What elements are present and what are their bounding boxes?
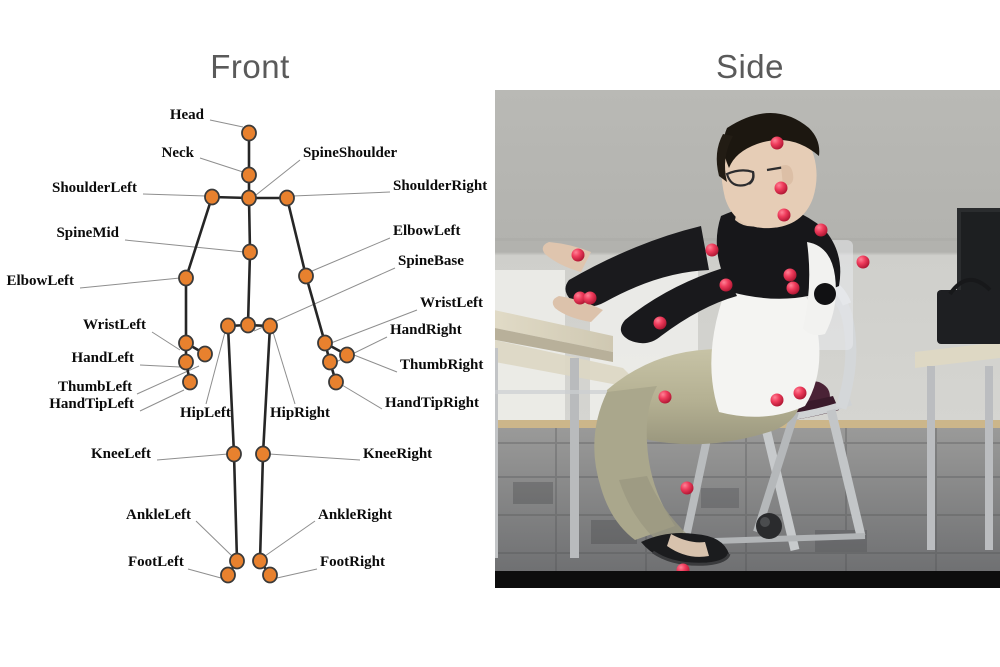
joint-ankleleft[interactable] xyxy=(230,554,244,569)
desk-bag xyxy=(937,290,1000,344)
front-skeleton-diagram: HeadNeckSpineShoulderShoulderLeftShoulde… xyxy=(0,90,495,600)
photo-marker-hand-tip-2[interactable] xyxy=(654,317,667,330)
joint-label-thumbright-13: ThumbRight xyxy=(400,358,483,373)
joint-label-spinemid-5: SpineMid xyxy=(48,226,119,241)
joint-handleft[interactable] xyxy=(179,355,193,370)
leader-line-ankleleft-21 xyxy=(196,521,232,556)
joint-label-elbowleft-7: ElbowLeft xyxy=(5,274,74,289)
joint-label-handright-11: HandRight xyxy=(390,323,462,338)
joint-label-handtipright-18: HandTipRight xyxy=(385,396,479,411)
photo-bottom-band xyxy=(495,571,1000,588)
skeleton-svg xyxy=(0,90,495,600)
joint-label-wristleft-10: WristLeft xyxy=(78,318,146,333)
joint-spinemid[interactable] xyxy=(243,245,257,260)
leader-line-neck-1 xyxy=(200,158,243,172)
joint-label-footright-24: FootRight xyxy=(320,555,385,570)
joint-label-elbowleft-6: ElbowLeft xyxy=(393,224,461,239)
leader-line-hipright-17 xyxy=(273,332,295,404)
leader-line-footright-24 xyxy=(277,569,317,578)
leader-line-ankleright-22 xyxy=(265,521,315,556)
joint-label-hipleft-16: HipLeft xyxy=(180,406,231,421)
joint-neck[interactable] xyxy=(242,168,256,183)
joint-handtipleft[interactable] xyxy=(183,375,197,390)
joint-label-kneeleft-19: KneeLeft xyxy=(83,447,151,462)
leader-line-elbowleft-7 xyxy=(80,278,180,288)
joint-label-handtipleft-15: HandTipLeft xyxy=(41,397,134,412)
joint-head[interactable] xyxy=(242,126,256,141)
joint-spinebase[interactable] xyxy=(241,318,255,333)
joint-label-spineshoulder-2: SpineShoulder xyxy=(303,146,397,161)
photo-marker-knee[interactable] xyxy=(681,482,694,495)
joint-elbowright[interactable] xyxy=(299,269,313,284)
leader-line-hipleft-16 xyxy=(206,332,225,404)
joint-shoulderright[interactable] xyxy=(280,191,294,206)
bone-HipLeft-KneeLeft xyxy=(228,326,234,454)
leader-line-spinemid-5 xyxy=(125,240,244,252)
joint-label-head-0: Head xyxy=(168,108,204,123)
photo-marker-spine-base[interactable] xyxy=(787,282,800,295)
joint-spineshoulder[interactable] xyxy=(242,191,256,206)
photo-marker-elbow[interactable] xyxy=(706,244,719,257)
leader-line-kneeleft-19 xyxy=(157,454,228,460)
joint-label-ankleright-22: AnkleRight xyxy=(318,508,392,523)
joint-thumbleft[interactable] xyxy=(198,347,212,362)
joint-footleft[interactable] xyxy=(221,568,235,583)
bone-ShoulderRight-ElbowRight xyxy=(287,198,306,276)
joint-kneeright[interactable] xyxy=(256,447,270,462)
bone-ShoulderLeft-ElbowLeft xyxy=(186,197,212,278)
joint-label-wristleft-9: WristLeft xyxy=(420,296,483,311)
joint-label-ankleleft-21: AnkleLeft xyxy=(126,508,190,523)
side-view-photo xyxy=(495,90,1000,588)
photo-marker-spine-mid[interactable] xyxy=(784,269,797,282)
joint-label-kneeright-20: KneeRight xyxy=(363,447,432,462)
photo-marker-shoulder[interactable] xyxy=(815,224,828,237)
joint-label-neck-1: Neck xyxy=(155,146,194,161)
joint-label-hipright-17: HipRight xyxy=(270,406,330,421)
bone-KneeRight-AnkleRight xyxy=(260,454,263,561)
leader-line-thumbright-13 xyxy=(354,355,397,372)
leader-line-handtipleft-15 xyxy=(140,390,184,411)
joint-wristleft[interactable] xyxy=(179,336,193,351)
joint-label-spinebase-8: SpineBase xyxy=(398,254,464,269)
panel-title-side: Side xyxy=(500,48,1000,86)
joint-footright[interactable] xyxy=(263,568,277,583)
bone-ElbowRight-WristRight xyxy=(306,276,325,343)
joint-hipleft[interactable] xyxy=(221,319,235,334)
joint-handright[interactable] xyxy=(323,355,337,370)
leader-line-head-0 xyxy=(210,120,243,127)
desk-left-leg xyxy=(570,358,579,558)
joint-elbowleft[interactable] xyxy=(179,271,193,286)
joint-shoulderleft[interactable] xyxy=(205,190,219,205)
joint-label-footleft-23: FootLeft xyxy=(128,555,182,570)
leader-line-shoulderright-4 xyxy=(293,192,390,196)
photo-marker-hand-tip[interactable] xyxy=(584,292,597,305)
leader-line-wristleft-10 xyxy=(152,332,180,350)
joint-label-shoulderright-4: ShoulderRight xyxy=(393,179,487,194)
bone-SpineMid-SpineBase xyxy=(248,252,250,325)
leader-line-shoulderleft-3 xyxy=(143,194,206,196)
joint-wristright[interactable] xyxy=(318,336,332,351)
leader-line-handleft-12 xyxy=(140,365,180,367)
leader-line-elbowleft-6 xyxy=(312,238,390,271)
joint-label-thumbleft-14: ThumbLeft xyxy=(58,380,131,395)
joint-ankleright[interactable] xyxy=(253,554,267,569)
leader-line-handtipright-18 xyxy=(342,385,382,409)
photo-marker-hand[interactable] xyxy=(720,279,733,292)
panel-title-front: Front xyxy=(0,48,500,86)
joint-label-handleft-12: HandLeft xyxy=(65,351,134,366)
leader-line-spineshoulder-2 xyxy=(256,160,300,195)
joint-handtipright[interactable] xyxy=(329,375,343,390)
bone-HipRight-KneeRight xyxy=(263,326,270,454)
joint-thumbright[interactable] xyxy=(340,348,354,363)
joint-kneeleft[interactable] xyxy=(227,447,241,462)
photo-marker-spine-shoulder[interactable] xyxy=(778,209,791,222)
side-photo-svg xyxy=(495,90,1000,588)
bone-KneeLeft-AnkleLeft xyxy=(234,454,237,561)
photo-marker-head[interactable] xyxy=(771,137,784,150)
joint-label-shoulderleft-3: ShoulderLeft xyxy=(45,181,137,196)
photo-marker-hip-center[interactable] xyxy=(794,387,807,400)
photo-marker-neck[interactable] xyxy=(775,182,788,195)
chair-caster xyxy=(756,513,782,539)
photo-marker-hip-left[interactable] xyxy=(659,391,672,404)
joint-hipright[interactable] xyxy=(263,319,277,334)
photo-marker-hip-right[interactable] xyxy=(771,394,784,407)
photo-marker-elbow-2[interactable] xyxy=(857,256,870,269)
leader-line-kneeright-20 xyxy=(269,454,360,460)
figure-root: Front Side HeadNeckSpineShoulderShoulder… xyxy=(0,0,1000,667)
sleeve-logo xyxy=(814,283,836,305)
photo-marker-wrist[interactable] xyxy=(572,249,585,262)
leader-line-footleft-23 xyxy=(188,569,221,578)
